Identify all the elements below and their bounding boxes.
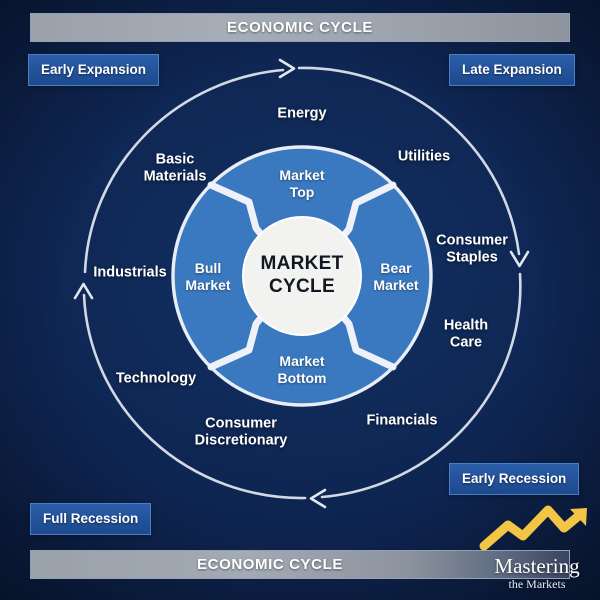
- sector-label-consumer-staples: Consumer Staples: [436, 232, 508, 265]
- sector-label-industrials: Industrials: [93, 265, 166, 282]
- sector-label-utilities: Utilities: [398, 149, 450, 166]
- sector-label-financials: Financials: [367, 413, 438, 430]
- sector-label-technology: Technology: [116, 371, 196, 388]
- logo-wordmark: Mastering: [478, 556, 596, 577]
- sector-label-energy: Energy: [277, 106, 326, 123]
- phase-badge-late-expansion[interactable]: Late Expansion: [449, 54, 575, 86]
- sector-label-consumer-discretionary: Consumer Discretionary: [195, 415, 288, 448]
- brand-logo: Mastering the Markets: [478, 503, 596, 595]
- phase-badge-early-recession[interactable]: Early Recession: [449, 463, 579, 495]
- economic-cycle-bar-top-label: ECONOMIC CYCLE: [227, 19, 373, 36]
- sector-label-basic-materials: Basic Materials: [144, 151, 207, 184]
- phase-badge-full-recession[interactable]: Full Recession: [30, 503, 151, 535]
- phase-badge-early-expansion[interactable]: Early Expansion: [28, 54, 159, 86]
- economic-cycle-bar-bottom-label: ECONOMIC CYCLE: [197, 556, 343, 573]
- economic-cycle-bar-top: ECONOMIC CYCLE: [30, 13, 570, 42]
- donut-label-market-bottom: Market Bottom: [278, 353, 327, 387]
- sector-label-health-care: Health Care: [444, 317, 488, 350]
- donut-label-bear-market: Bear Market: [373, 260, 418, 294]
- donut-label-market-top: Market Top: [279, 167, 324, 201]
- zigzag-growth-arrow-icon: [478, 503, 596, 553]
- logo-subwordmark: the Markets: [478, 578, 596, 591]
- donut-label-bull-market: Bull Market: [185, 260, 230, 294]
- hub-label: MARKET CYCLE: [260, 253, 343, 299]
- infographic-canvas: ECONOMIC CYCLE: [0, 0, 600, 600]
